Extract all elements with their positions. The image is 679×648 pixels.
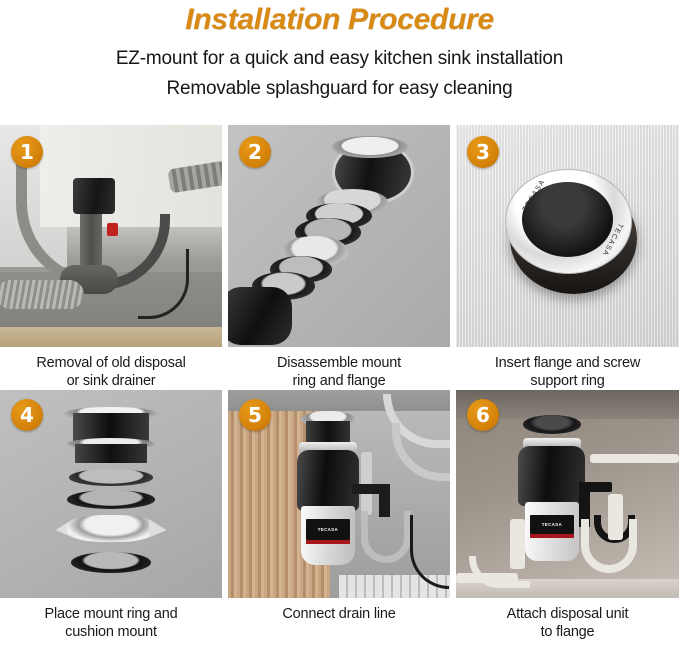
flange-thread-shape: [75, 444, 146, 463]
disposal-motor-housing-shape: [297, 450, 359, 510]
product-label-stripe: [530, 534, 575, 538]
step-card-2: 2 Disassemble mount ring and flange: [228, 125, 450, 390]
step-card-1: 1 Removal of old disposal or sink draine…: [0, 125, 222, 390]
step-image-1: 1: [0, 125, 222, 347]
step-card-4: 4 Place mount ring and cushion mount: [0, 390, 222, 641]
product-label: TECASA: [306, 519, 350, 540]
left-pipe-bottom-shape: [456, 573, 518, 583]
step-caption-4: Place mount ring and cushion mount: [0, 598, 222, 641]
disposal-motor-housing-shape: [518, 446, 585, 506]
product-label-text: TECASA: [542, 522, 562, 527]
product-label-text: TECASA: [318, 527, 338, 532]
page-title: Installation Procedure: [0, 2, 679, 38]
step-badge-1: 1: [11, 136, 43, 168]
wood-plank-shape: [0, 327, 222, 347]
step-badge-4: 4: [11, 399, 43, 431]
step-caption-3-line-1: Insert flange and screw: [456, 354, 679, 372]
disposal-neck-shape: [228, 287, 292, 345]
step-caption-2-line-1: Disassemble mount: [228, 354, 450, 372]
step-caption-4-line-2: cushion mount: [0, 623, 222, 641]
step-image-3: 3 TECASA TECASA: [456, 125, 679, 347]
step-caption-6-line-2: to flange: [456, 623, 679, 641]
backup-ring-shape: [69, 469, 153, 486]
step-image-6: 6 TECASA: [456, 390, 679, 598]
step-badge-5: 5: [239, 399, 271, 431]
step-caption-1-line-2: or sink drainer: [0, 372, 222, 390]
mount-ring-shape: [67, 490, 156, 509]
step-image-4: 4: [0, 390, 222, 598]
step-image-5: 5 TECASA: [228, 390, 450, 598]
step-caption-5: Connect drain line: [228, 598, 450, 623]
mount-tab-right-shape: [149, 519, 167, 538]
subtitle-line-1: EZ-mount for a quick and easy kitchen si…: [0, 45, 679, 72]
step-caption-2-line-2: ring and flange: [228, 372, 450, 390]
step-card-5: 5 TECASA: [228, 390, 450, 641]
step-caption-6-line-1: Attach disposal unit: [456, 605, 679, 623]
step-caption-3: Insert flange and screw support ring: [456, 347, 679, 390]
product-label-stripe: [306, 540, 350, 544]
step-caption-1-line-1: Removal of old disposal: [0, 354, 222, 372]
p-trap-shape: [581, 519, 637, 573]
p-trap-shape: [361, 511, 411, 564]
product-label: TECASA: [530, 515, 575, 534]
step-caption-6: Attach disposal unit to flange: [456, 598, 679, 641]
step-image-2: 2: [228, 125, 450, 347]
subtitle-line-2: Removable splashguard for easy cleaning: [0, 75, 679, 102]
sink-flange-shape: [523, 415, 581, 434]
horizontal-drain-pipe-shape: [590, 454, 679, 462]
step-badge-3: 3: [467, 136, 499, 168]
step-caption-5-line-1: Connect drain line: [228, 605, 450, 623]
step-badge-2: 2: [239, 136, 271, 168]
support-ring-shape: [67, 515, 156, 542]
step-caption-3-line-2: support ring: [456, 372, 679, 390]
step-card-3: 3 TECASA TECASA Insert flange and screw …: [456, 125, 679, 390]
step-caption-4-line-1: Place mount ring and: [0, 605, 222, 623]
cushion-mount-shape: [71, 552, 151, 573]
steps-grid: 1 Removal of old disposal or sink draine…: [0, 125, 679, 641]
header: Installation Procedure EZ-mount for a qu…: [0, 0, 679, 102]
step-card-6: 6 TECASA: [456, 390, 679, 641]
installation-procedure-page: Installation Procedure EZ-mount for a qu…: [0, 0, 679, 648]
flexible-hose-shape: [0, 280, 84, 309]
step-caption-2: Disassemble mount ring and flange: [228, 347, 450, 390]
step-caption-1: Removal of old disposal or sink drainer: [0, 347, 222, 390]
step-badge-6: 6: [467, 399, 499, 431]
